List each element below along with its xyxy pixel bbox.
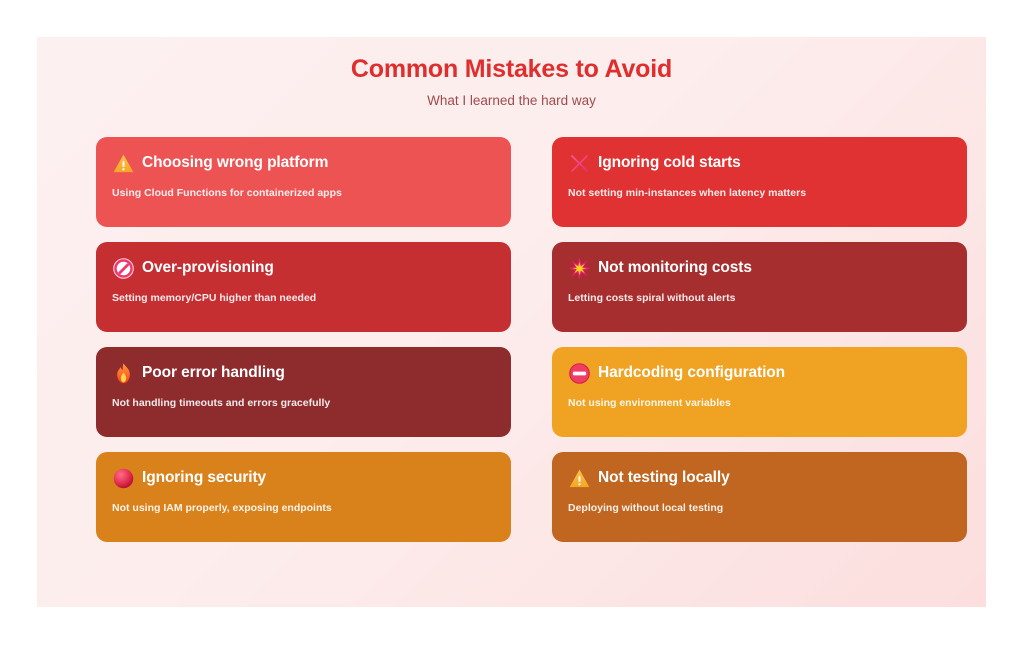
mistake-card[interactable]: Choosing wrong platformUsing Cloud Funct… — [96, 137, 511, 227]
mistake-cards-grid: Choosing wrong platformUsing Cloud Funct… — [96, 137, 927, 542]
card-header: Not testing locally — [568, 465, 951, 491]
mistake-card[interactable]: Not testing locallyDeploying without loc… — [552, 452, 967, 542]
slide-header: Common Mistakes to Avoid What I learned … — [37, 37, 986, 109]
mistake-card[interactable]: Poor error handlingNot handling timeouts… — [96, 347, 511, 437]
warning-triangle-icon — [568, 467, 591, 490]
sparkle-burst-icon — [568, 257, 591, 280]
page-title: Common Mistakes to Avoid — [37, 54, 986, 84]
page-subtitle: What I learned the hard way — [37, 93, 986, 109]
slide-panel: Common Mistakes to Avoid What I learned … — [37, 37, 986, 607]
card-title: Not monitoring costs — [598, 259, 752, 276]
card-description: Using Cloud Functions for containerized … — [112, 187, 495, 201]
card-title: Poor error handling — [142, 364, 285, 381]
card-header: Over-provisioning — [112, 255, 495, 281]
no-entry-icon — [568, 362, 591, 385]
card-header: Ignoring cold starts — [568, 150, 951, 176]
prohibited-icon — [112, 257, 135, 280]
card-title: Ignoring security — [142, 469, 266, 486]
card-description: Not setting min-instances when latency m… — [568, 187, 951, 201]
cross-mark-icon — [568, 152, 591, 175]
mistake-card[interactable]: Over-provisioningSetting memory/CPU high… — [96, 242, 511, 332]
warning-triangle-icon — [112, 152, 135, 175]
fire-icon — [112, 362, 135, 385]
card-description: Letting costs spiral without alerts — [568, 292, 951, 306]
card-title: Hardcoding configuration — [598, 364, 785, 381]
card-header: Poor error handling — [112, 360, 495, 386]
red-circle-icon — [112, 467, 135, 490]
card-title: Choosing wrong platform — [142, 154, 328, 171]
mistake-card[interactable]: Hardcoding configurationNot using enviro… — [552, 347, 967, 437]
mistake-card[interactable]: Not monitoring costsLetting costs spiral… — [552, 242, 967, 332]
card-header: Hardcoding configuration — [568, 360, 951, 386]
card-description: Not handling timeouts and errors gracefu… — [112, 397, 495, 411]
card-header: Ignoring security — [112, 465, 495, 491]
card-title: Ignoring cold starts — [598, 154, 741, 171]
card-description: Setting memory/CPU higher than needed — [112, 292, 495, 306]
mistake-card[interactable]: Ignoring securityNot using IAM properly,… — [96, 452, 511, 542]
card-description: Deploying without local testing — [568, 502, 951, 516]
card-header: Choosing wrong platform — [112, 150, 495, 176]
card-title: Over-provisioning — [142, 259, 274, 276]
card-header: Not monitoring costs — [568, 255, 951, 281]
card-title: Not testing locally — [598, 469, 730, 486]
mistake-card[interactable]: Ignoring cold startsNot setting min-inst… — [552, 137, 967, 227]
card-description: Not using environment variables — [568, 397, 951, 411]
card-description: Not using IAM properly, exposing endpoin… — [112, 502, 495, 516]
